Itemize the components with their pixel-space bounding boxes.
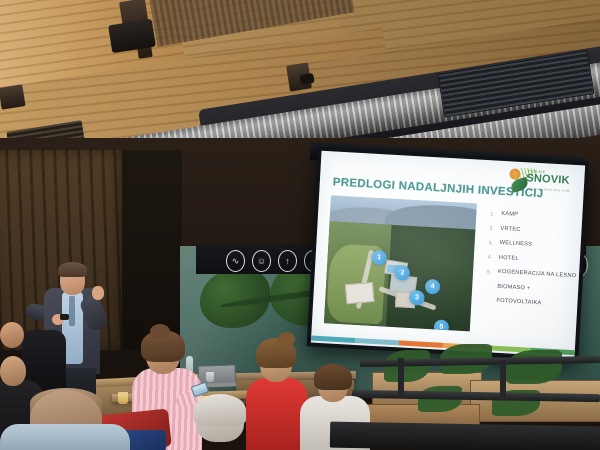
list-label: KAMP [501,211,518,219]
list-number: 3. [489,239,500,246]
presenter-collar [69,296,75,326]
presentation-slide: PREDLOGI NADALJNJIH INVESTICIJ TERME SNO… [311,151,585,357]
list-label: VRTEC [500,225,520,233]
list-item: 4. HOTEL [488,254,584,266]
list-number: 5. [487,268,498,275]
metal-bracket [0,84,26,109]
terme-snovik-logo: TERME SNOVIK naravne term alne vode [506,166,576,200]
list-label: HOTEL [499,254,519,262]
list-item: 5. KOGENERACIJA NA LESNO [487,268,583,280]
dark-wall-strip [122,150,182,350]
railing-post [500,360,506,400]
tree-icon: ↑ [278,250,297,272]
list-item: 1. KAMP [490,210,585,222]
building [345,282,375,304]
person-hair [314,364,352,390]
presentation-clicker [60,314,69,320]
person-hair [194,394,246,426]
person-head [0,322,24,348]
projection-screen: PREDLOGI NADALJNJIH INVESTICIJ TERME SNO… [307,147,590,362]
list-number: 4. [488,254,499,261]
wave-icon: ∿ [226,250,245,272]
list-number: 2. [489,225,500,232]
list-continuation-line: BIOMASO + [497,283,582,295]
logo-brand: SNOVIK [526,173,570,186]
list-number: 1. [490,210,501,217]
list-label: KOGENERACIJA NA LESNO [498,269,577,280]
person-icon: ☺ [252,250,271,272]
person-shoulders [0,424,130,450]
presenter-right-hand [92,286,104,300]
aerial-resort-photo: 1 2 3 4 5 [324,195,477,331]
drinking-glass [118,392,128,404]
investment-list: 1. KAMP 2. VRTEC 3. WELLNESS 4. HOTEL 5. [485,210,585,317]
list-label: WELLNESS [499,240,532,249]
list-item: 2. VRTEC [489,225,585,237]
list-item: 3. WELLNESS [488,239,584,251]
list-continuation-line: FOTOVOLTAIKA [496,298,581,310]
railing-post [398,358,404,398]
logo-tagline: naravne term alne vode [529,186,571,192]
conference-room-photo: ∿ ☺ ↑ ♨ ▲ ▲ PREDLOGI NADALJNJIH INVESTIC… [0,0,600,450]
presenter-hair [58,262,87,277]
person-head [0,356,26,386]
foreground-railing [330,422,600,450]
drinking-glass [206,372,214,382]
plant [506,350,562,384]
person-hair-bun [150,324,170,339]
person-hair-bun [278,332,295,346]
audience-person-red [246,378,308,450]
map-marker-5[interactable]: 5 [433,319,449,331]
